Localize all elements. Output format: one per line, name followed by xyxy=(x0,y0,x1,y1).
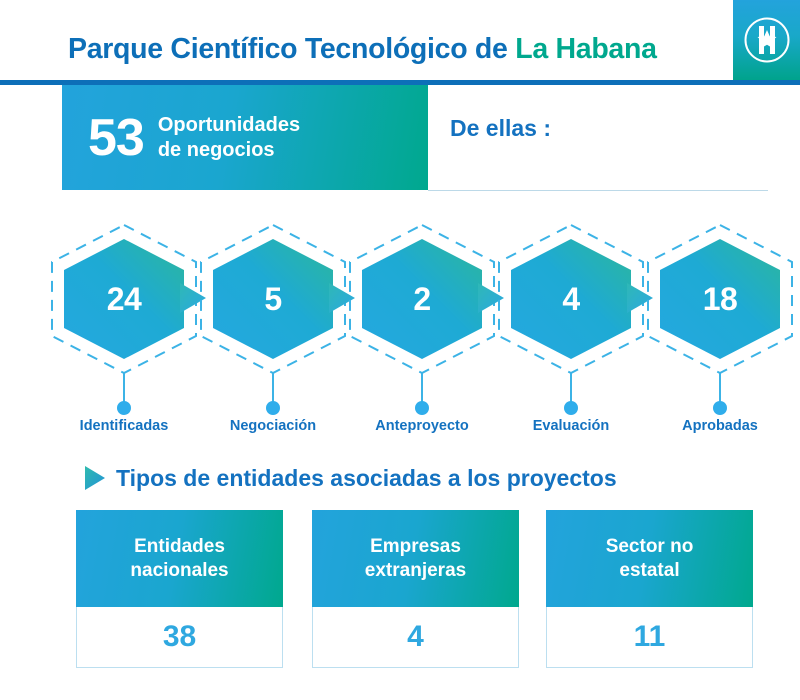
entity-card-value: 4 xyxy=(312,607,519,668)
opportunities-caption-line2: de negocios xyxy=(158,138,300,162)
hexagon-shape: 18 xyxy=(644,223,796,375)
header: Parque Científico Tecnológico de La Haba… xyxy=(0,0,800,86)
connector-dot xyxy=(713,401,727,415)
pipeline-stage-label: Anteproyecto xyxy=(346,418,498,434)
pipeline-stage: 2 Anteproyecto xyxy=(346,215,498,440)
pipeline-stage: 5 Negociación xyxy=(197,215,349,440)
de-ellas-panel: De ellas : xyxy=(428,85,800,190)
page-title-accent: La Habana xyxy=(515,33,656,65)
summary-row: 53 Oportunidades de negocios De ellas : xyxy=(0,85,800,193)
entity-card: Entidades nacionales 38 xyxy=(76,510,283,668)
opportunities-caption: Oportunidades de negocios xyxy=(158,113,300,162)
pipeline-stage: 4 Evaluación xyxy=(495,215,647,440)
pipeline-stage-label: Evaluación xyxy=(495,418,647,434)
connector-dot xyxy=(266,401,280,415)
pipeline-stage: 18 Aprobadas xyxy=(644,215,796,440)
entity-card-value: 38 xyxy=(76,607,283,668)
hexagon-value: 18 xyxy=(644,223,796,375)
de-ellas-divider xyxy=(428,190,768,191)
opportunities-number: 53 xyxy=(88,112,144,164)
connector-dot xyxy=(415,401,429,415)
entity-cards: Entidades nacionales 38 Empresas extranj… xyxy=(0,510,800,670)
entity-card-title-line1: Sector no xyxy=(606,535,694,559)
entity-card-title-line2: extranjeras xyxy=(365,559,466,583)
pipeline-stage-label: Aprobadas xyxy=(644,418,796,434)
pipeline-flow: 24 Identificadas xyxy=(0,215,800,440)
entities-section-title: Tipos de entidades asociadas a los proye… xyxy=(116,465,617,492)
opportunities-caption-line1: Oportunidades xyxy=(158,113,300,137)
opportunities-banner: 53 Oportunidades de negocios xyxy=(62,85,428,190)
entity-card-title: Empresas extranjeras xyxy=(312,510,519,607)
infographic-page: Parque Científico Tecnológico de La Haba… xyxy=(0,0,800,700)
entity-card-value: 11 xyxy=(546,607,753,668)
logo-block xyxy=(733,0,800,80)
entity-card: Empresas extranjeras 4 xyxy=(312,510,519,668)
entity-card-title: Entidades nacionales xyxy=(76,510,283,607)
connector-dot xyxy=(564,401,578,415)
pipeline-stage-label: Negociación xyxy=(197,418,349,434)
entities-section-heading: Tipos de entidades asociadas a los proye… xyxy=(84,462,617,494)
entity-card: Sector no estatal 11 xyxy=(546,510,753,668)
pipeline-stage-label: Identificadas xyxy=(48,418,200,434)
connector-dot xyxy=(117,401,131,415)
entity-card-title-line2: nacionales xyxy=(130,559,228,583)
page-title-main: Parque Científico Tecnológico de xyxy=(68,33,515,65)
entity-card-title-line2: estatal xyxy=(606,559,694,583)
parque-cientifico-logo-icon xyxy=(742,15,792,65)
entity-card-title-line1: Empresas xyxy=(365,535,466,559)
entity-card-title-line1: Entidades xyxy=(130,535,228,559)
de-ellas-label: De ellas : xyxy=(450,115,551,142)
page-title: Parque Científico Tecnológico de La Haba… xyxy=(68,33,657,66)
entity-card-title: Sector no estatal xyxy=(546,510,753,607)
pipeline-stage: 24 Identificadas xyxy=(48,215,200,440)
triangle-bullet-icon xyxy=(84,465,106,491)
